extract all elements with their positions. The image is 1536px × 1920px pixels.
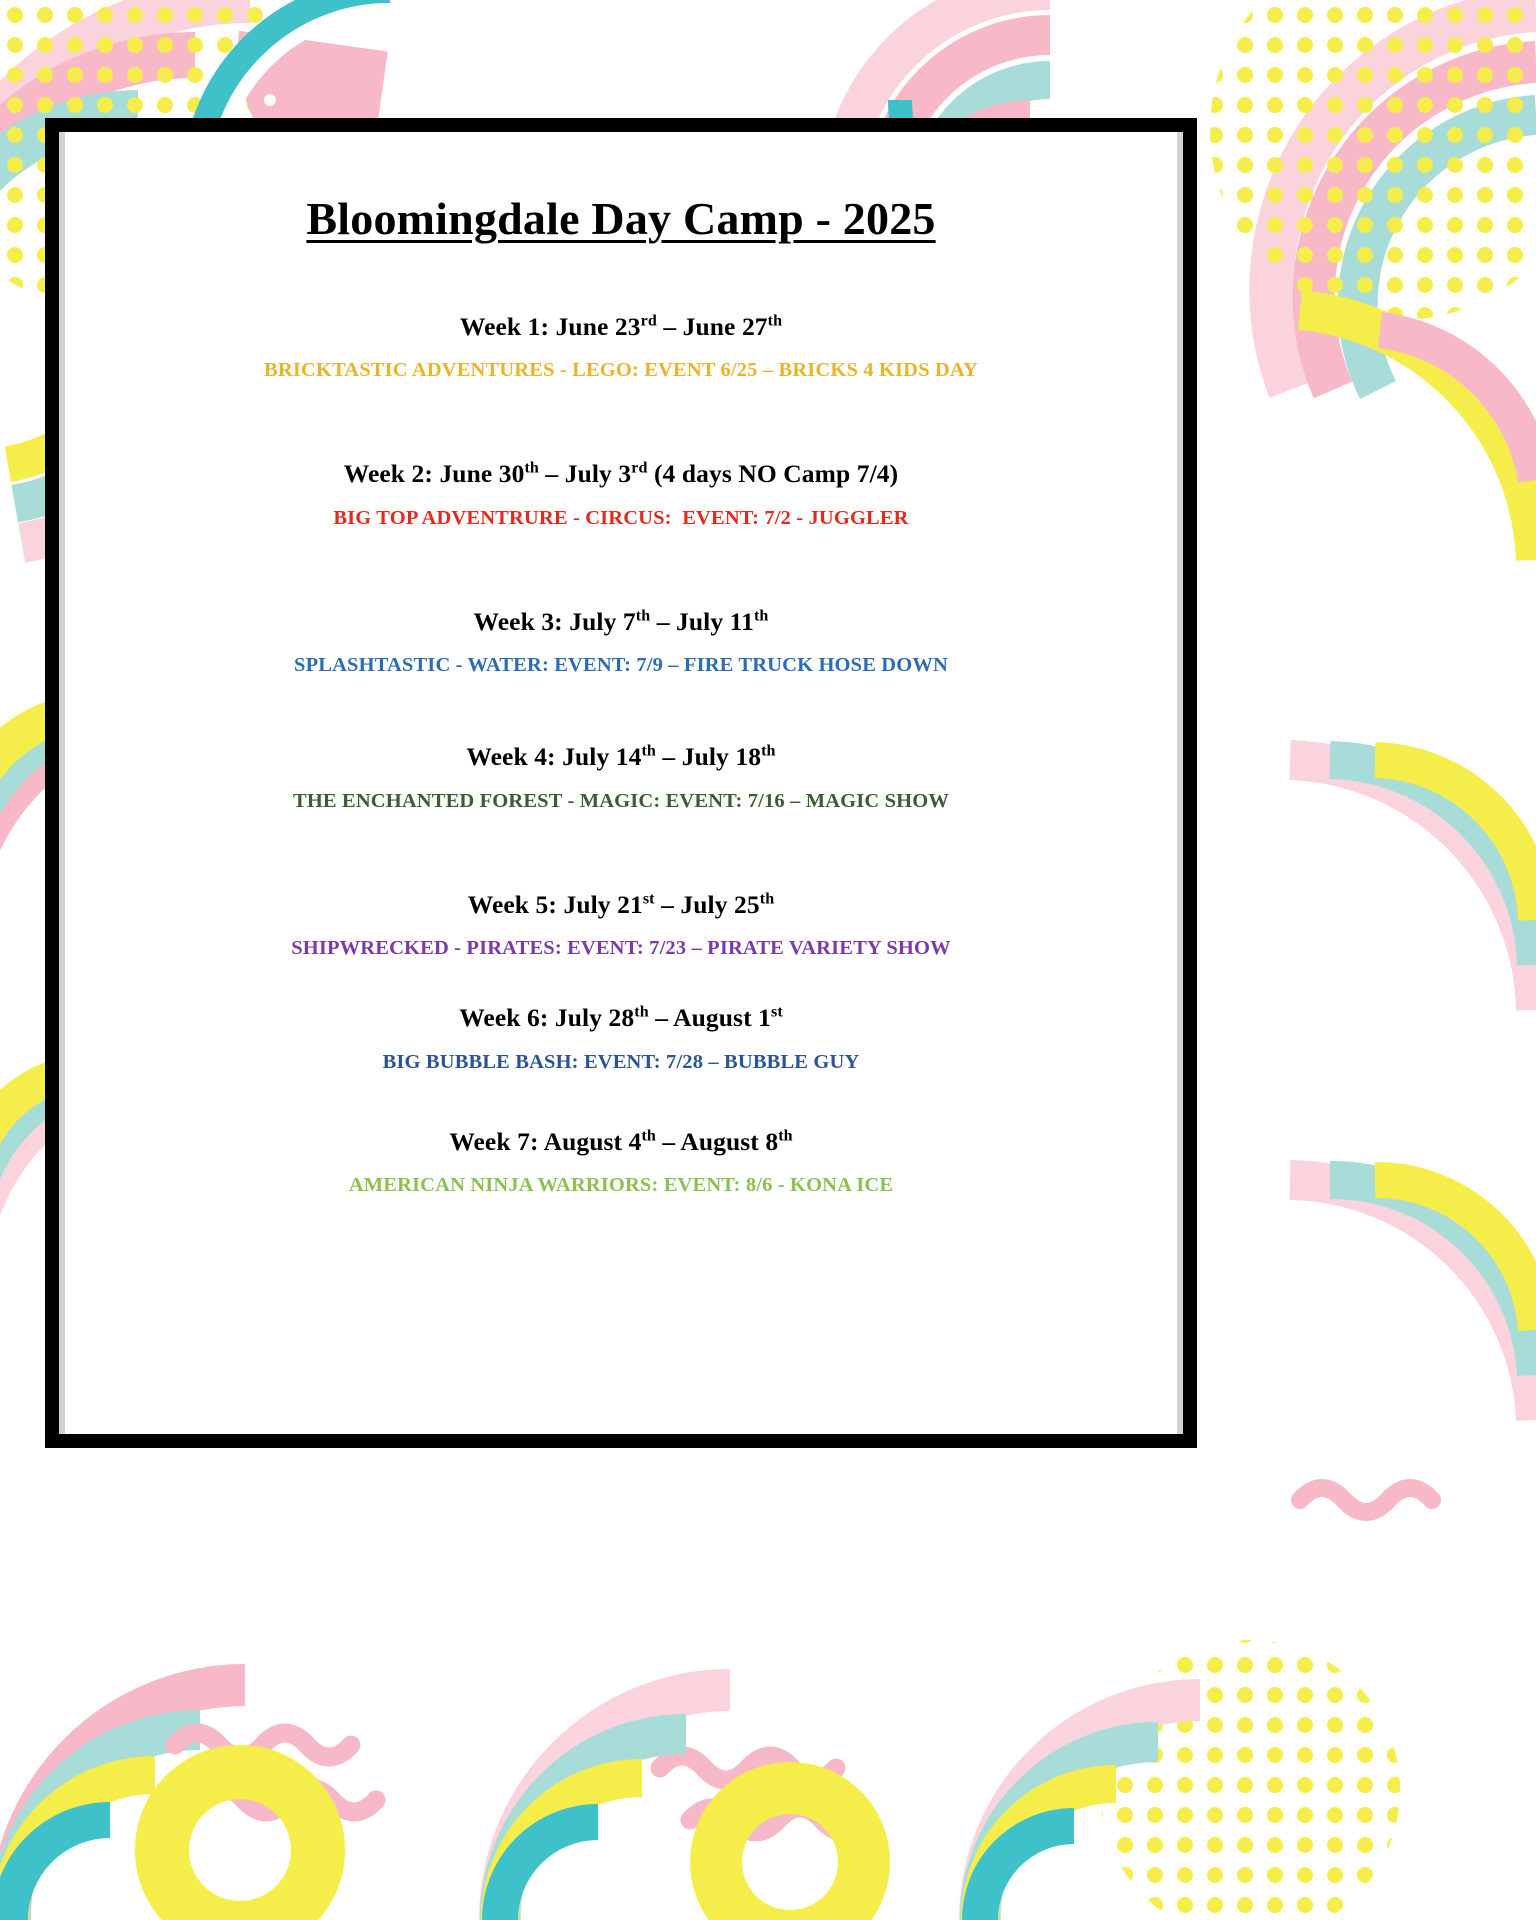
week-heading-2-sup1: th (524, 460, 538, 477)
week-heading-4-sup1: th (641, 743, 655, 760)
deco-rainbow-bottom-mid (500, 1690, 730, 1920)
spacer-2 (95, 532, 1147, 606)
week-heading-3: Week 3: July 7th – July 11th (95, 606, 1147, 638)
week-subtitle-7: AMERICAN NINJA WARRIORS: EVENT: 8/6 - KO… (95, 1157, 1147, 1199)
week-heading-6: Week 6: July 28th – August 1st (95, 1002, 1147, 1034)
deco-squiggle-bottom-1 (175, 1733, 376, 1812)
week-block-2: Week 2: June 30th – July 3rd (4 days NO … (95, 458, 1147, 532)
deco-squiggle-bottom-2 (660, 1756, 866, 1832)
week-heading-3-mid: – July 11 (650, 607, 754, 636)
week-heading-6-sup1: th (634, 1004, 648, 1021)
week-subtitle-2: BIG TOP ADVENTRURE - CIRCUS: EVENT: 7/2 … (95, 490, 1147, 532)
week-list: Week 1: June 23rd – June 27th BRICKTASTI… (95, 311, 1147, 1200)
spacer-6 (95, 1076, 1147, 1126)
flyer-frame: Bloomingdale Day Camp - 2025 Week 1: Jun… (45, 118, 1197, 1448)
week-heading-2: Week 2: June 30th – July 3rd (4 days NO … (95, 458, 1147, 490)
week-block-7: Week 7: August 4th – August 8th AMERICAN… (95, 1126, 1147, 1200)
week-block-3: Week 3: July 7th – July 11th SPLASHTASTI… (95, 606, 1147, 680)
week-heading-3-prefix: Week 3: July 7 (474, 607, 636, 636)
page-title-text: Bloomingdale Day Camp - 2025 (306, 193, 935, 244)
week-subtitle-3: SPLASHTASTIC - WATER: EVENT: 7/9 – FIRE … (95, 637, 1147, 679)
week-heading-2-mid: – July 3 (539, 459, 631, 488)
week-heading-2-sup2: rd (631, 460, 647, 477)
deco-rainbow-bottomleft (10, 1685, 245, 1920)
spacer-1 (95, 384, 1147, 458)
week-block-6: Week 6: July 28th – August 1st BIG BUBBL… (95, 1002, 1147, 1076)
week-heading-7-sup2: th (778, 1127, 792, 1144)
week-heading-2-prefix: Week 2: June 30 (344, 459, 525, 488)
deco-dot-circle-topright (1190, 0, 1536, 380)
week-heading-4-prefix: Week 4: July 14 (466, 742, 641, 771)
deco-pool-ring-bottomleft (162, 1772, 318, 1920)
week-subtitle-1: BRICKTASTIC ADVENTURES - LEGO: EVENT 6/2… (95, 342, 1147, 384)
week-subtitle-5: SHIPWRECKED - PIRATES: EVENT: 7/23 – PIR… (95, 920, 1147, 962)
week-heading-1-sup1: rd (641, 312, 657, 329)
week-heading-5-mid: – July 25 (655, 890, 760, 919)
week-heading-5-sup2: th (760, 890, 774, 907)
week-heading-6-mid: – August 1 (649, 1003, 771, 1032)
week-heading-1-mid: – June 27 (657, 312, 768, 341)
deco-squiggle-bottom-3 (1300, 1488, 1432, 1512)
week-heading-5-prefix: Week 5: July 21 (468, 890, 643, 919)
week-heading-4-sup2: th (761, 743, 775, 760)
week-subtitle-6: BIG BUBBLE BASH: EVENT: 7/28 – BUBBLE GU… (95, 1034, 1147, 1076)
week-heading-3-sup1: th (636, 607, 650, 624)
spacer-3 (95, 679, 1147, 741)
deco-rainbow-right-2 (1290, 760, 1536, 1010)
deco-dot-circle-bottomright (1090, 1630, 1430, 1920)
week-block-4: Week 4: July 14th – July 18th THE ENCHAN… (95, 741, 1147, 815)
week-heading-2-suffix: (4 days NO Camp 7/4) (647, 459, 898, 488)
week-heading-3-sup2: th (754, 607, 768, 624)
deco-rainbow-right-3 (1290, 1180, 1536, 1420)
week-heading-1-sup2: th (768, 312, 782, 329)
week-heading-4-mid: – July 18 (656, 742, 761, 771)
week-heading-7: Week 7: August 4th – August 8th (95, 1126, 1147, 1158)
deco-rainbow-bottom-right (980, 1700, 1200, 1920)
week-heading-1: Week 1: June 23rd – June 27th (95, 311, 1147, 343)
week-heading-6-sup2: st (771, 1004, 783, 1021)
page-title: Bloomingdale Day Camp - 2025 (95, 132, 1147, 245)
week-heading-6-prefix: Week 6: July 28 (459, 1003, 634, 1032)
week-heading-7-mid: – August 8 (656, 1127, 778, 1156)
week-block-1: Week 1: June 23rd – June 27th BRICKTASTI… (95, 311, 1147, 385)
flyer-content: Bloomingdale Day Camp - 2025 Week 1: Jun… (65, 132, 1177, 1434)
week-heading-5: Week 5: July 21st – July 25th (95, 889, 1147, 921)
week-heading-4: Week 4: July 14th – July 18th (95, 741, 1147, 773)
deco-pool-ring-bottom-mid (716, 1788, 864, 1920)
spacer-5 (95, 962, 1147, 1002)
deco-rainbow-right-1 (1300, 310, 1536, 560)
week-heading-7-sup1: th (641, 1127, 655, 1144)
week-heading-5-sup1: st (643, 890, 655, 907)
week-subtitle-4: THE ENCHANTED FOREST - MAGIC: EVENT: 7/1… (95, 773, 1147, 815)
spacer-4 (95, 815, 1147, 889)
week-heading-1-prefix: Week 1: June 23 (460, 312, 641, 341)
week-heading-7-prefix: Week 7: August 4 (449, 1127, 641, 1156)
deco-rainbow-topright (1271, 10, 1536, 390)
week-block-5: Week 5: July 21st – July 25th SHIPWRECKE… (95, 889, 1147, 963)
flyer-sheet: Bloomingdale Day Camp - 2025 Week 1: Jun… (59, 132, 1183, 1434)
